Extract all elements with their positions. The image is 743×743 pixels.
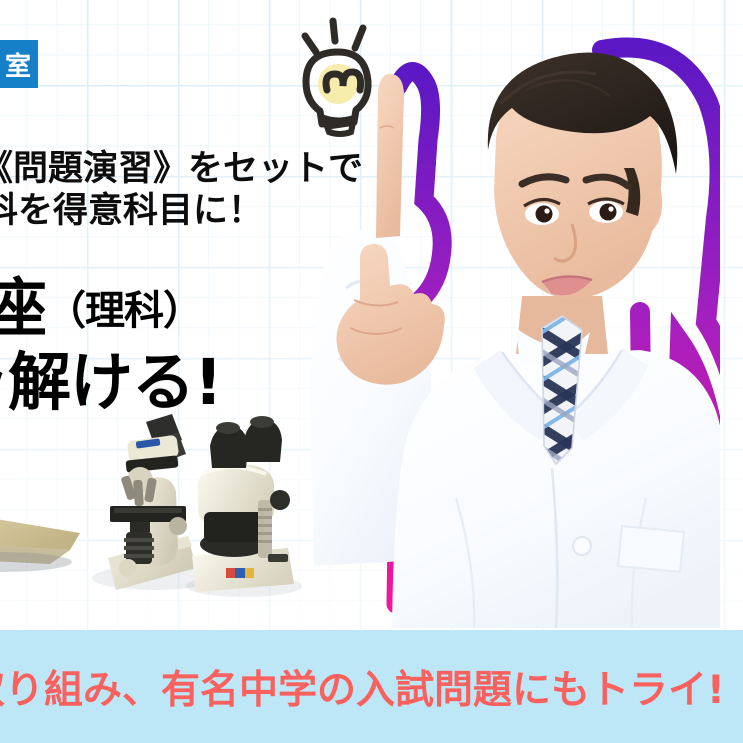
banner-image: 室 《問題演習》をセットで 理科を得意科目に！ 講座（理科） ラ解ける! 取り組… — [0, 0, 743, 743]
headline-paren: （理科） — [46, 288, 202, 334]
bottom-banner: 取り組み、有名中学の入試問題にもトライ! — [0, 630, 743, 743]
corner-badge: 室 — [0, 40, 38, 88]
subheadline-line-2: 理科を得意科目に！ — [0, 182, 263, 233]
monocular-microscope — [108, 414, 196, 590]
lightbulb-idea-icon — [283, 8, 391, 140]
headline-line-2: ラ解ける! — [0, 332, 222, 423]
bottom-banner-text: 取り組み、有名中学の入試問題にもトライ! — [0, 659, 725, 715]
tan-prop-object — [0, 498, 90, 578]
stereo-microscope — [192, 416, 294, 592]
microscopes-illustration — [92, 408, 310, 598]
